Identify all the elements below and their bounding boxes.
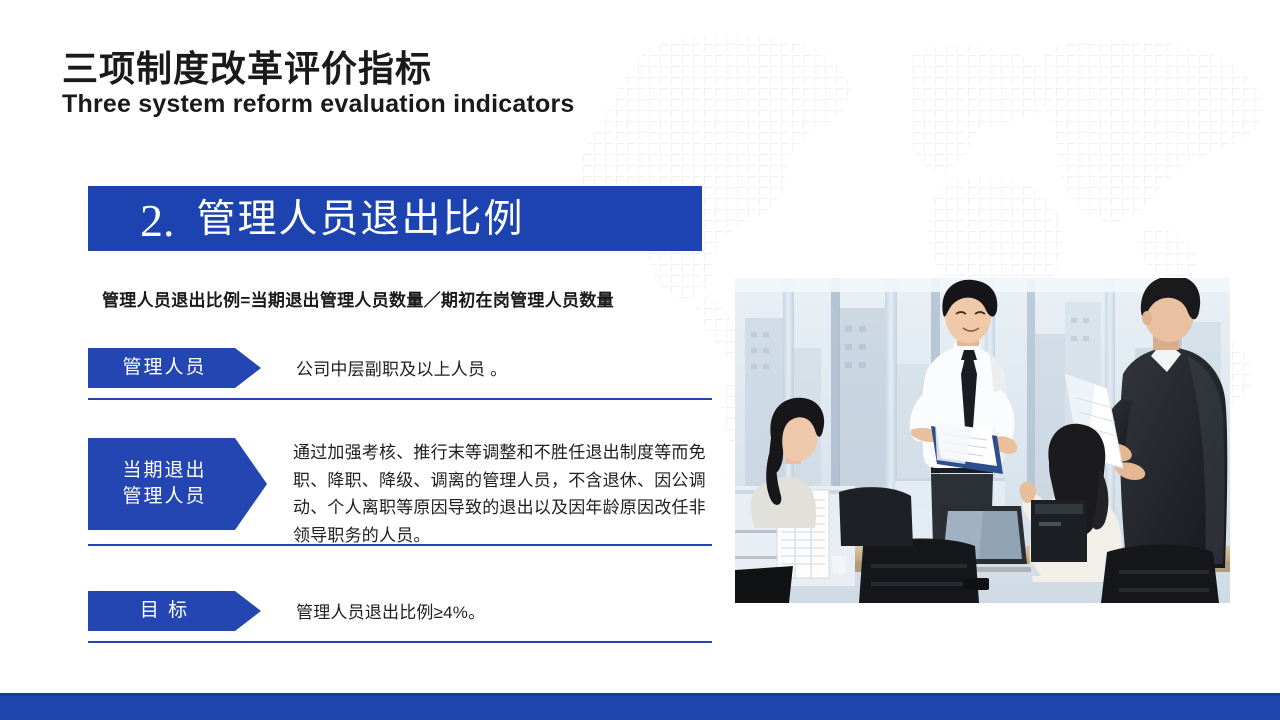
row-description: 公司中层副职及以上人员 。 [261, 348, 712, 384]
definition-row: 当期退出 管理人员 通过加强考核、推行末等调整和不胜任退出制度等而免职、降职、降… [88, 438, 712, 544]
tag-arrow-icon [235, 438, 267, 530]
row-description: 通过加强考核、推行末等调整和不胜任退出制度等而免职、降职、降级、调离的管理人员，… [267, 438, 712, 549]
tag-line: 管理人员 [122, 484, 206, 510]
row-description: 管理人员退出比例≥4%。 [261, 591, 712, 627]
footer-bar [0, 693, 1280, 720]
row-divider [88, 544, 712, 546]
row-tag-label: 目 标 [88, 591, 235, 631]
slide-root: 三项制度改革评价指标 Three system reform evaluatio… [0, 0, 1280, 720]
section-title: 管理人员退出比例 [197, 200, 525, 239]
row-tag-label: 管理人员 [88, 348, 235, 388]
tag-line: 当期退出 [122, 458, 206, 484]
definition-row: 目 标 管理人员退出比例≥4%。 [88, 591, 712, 639]
office-meeting-photo [735, 278, 1230, 603]
tag-arrow-icon [235, 591, 261, 631]
section-banner: 2. 管理人员退出比例 [88, 186, 702, 251]
title-english: Three system reform evaluation indicator… [62, 90, 575, 119]
definition-list: 管理人员 公司中层副职及以上人员 。 当期退出 管理人员 通过加强考核、推行末等… [88, 348, 712, 639]
formula-text: 管理人员退出比例=当期退出管理人员数量／期初在岗管理人员数量 [102, 286, 614, 311]
tag-line: 目 标 [140, 598, 189, 624]
row-divider [88, 398, 712, 400]
tag-line: 管理人员 [122, 355, 206, 381]
page-title: 三项制度改革评价指标 Three system reform evaluatio… [62, 48, 575, 119]
footer-top-line [0, 693, 1280, 696]
row-divider [88, 641, 712, 643]
title-chinese: 三项制度改革评价指标 [62, 48, 575, 89]
section-number: 2. [140, 198, 175, 244]
row-tag-label: 当期退出 管理人员 [88, 438, 235, 530]
tag-arrow-icon [235, 348, 261, 388]
definition-row: 管理人员 公司中层副职及以上人员 。 [88, 348, 712, 396]
